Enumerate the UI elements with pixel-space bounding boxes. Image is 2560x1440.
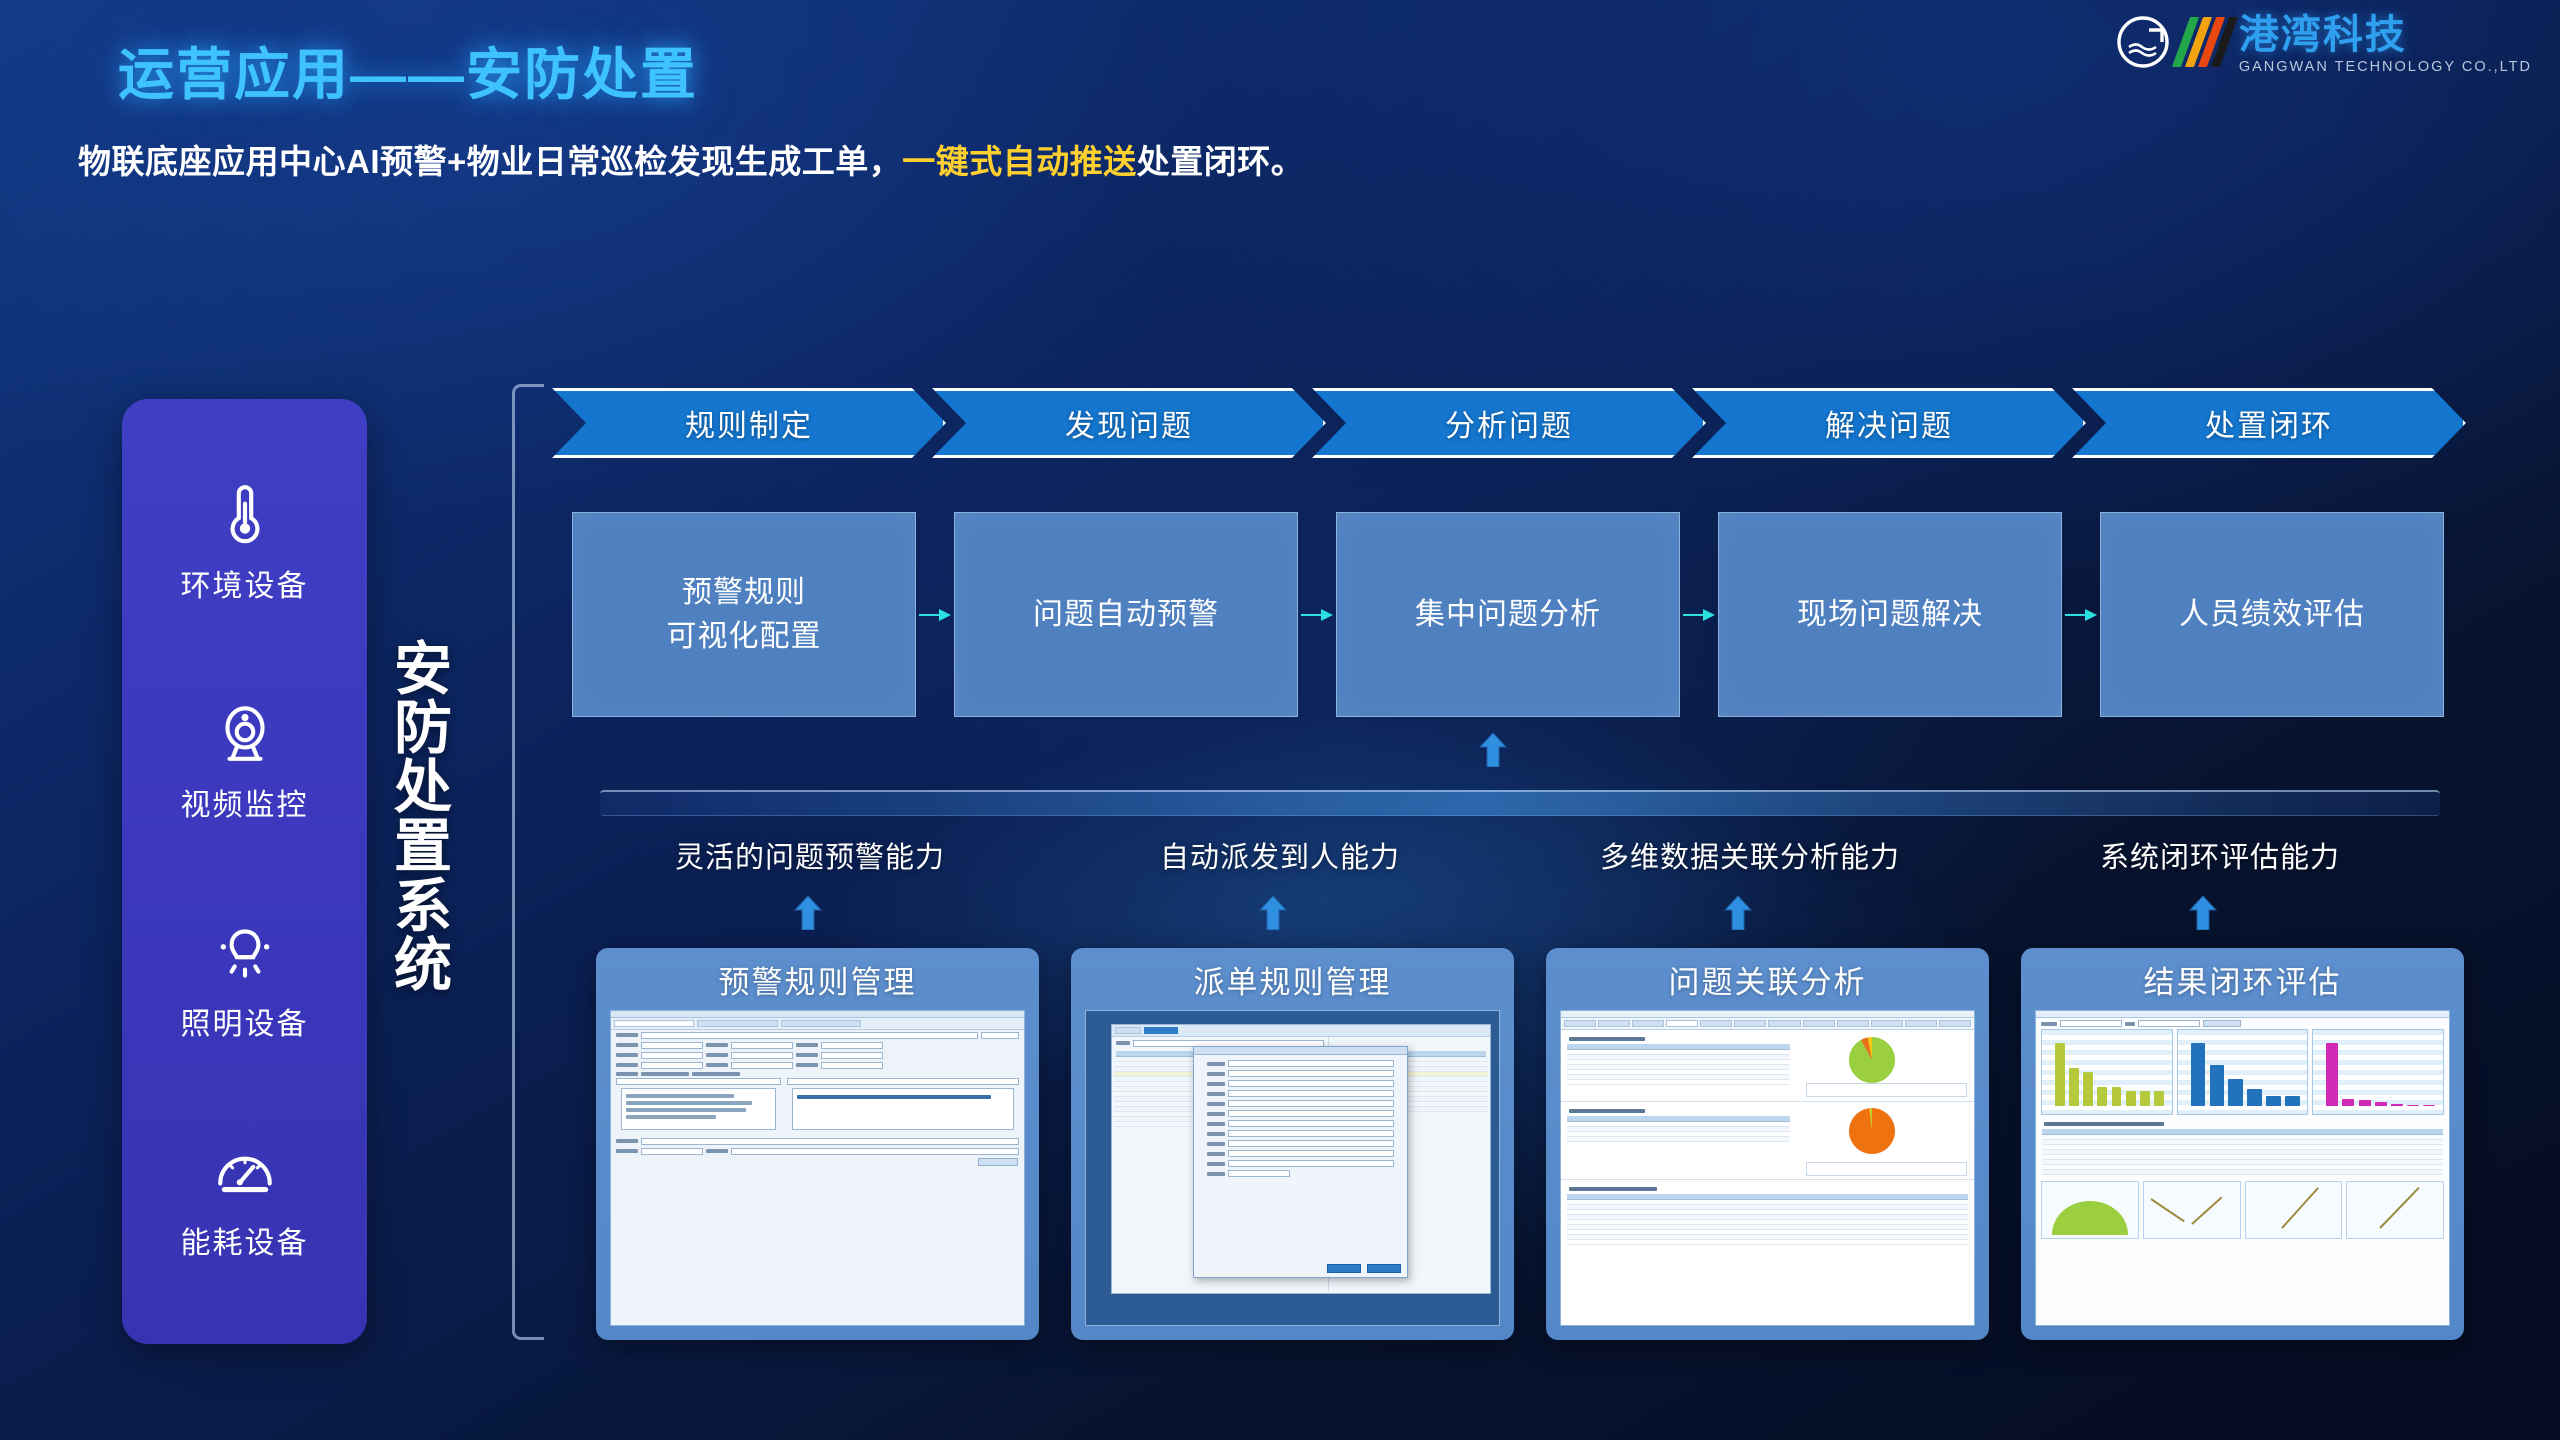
- stage-box-4[interactable]: 现场问题解决: [1718, 512, 2062, 717]
- logo-stripes-icon: [2172, 17, 2238, 67]
- stage-box-label: 集中问题分析: [1415, 593, 1601, 637]
- capability-label: 自动派发到人能力: [1160, 834, 1400, 876]
- subtitle-part1: 物联底座应用中心AI预警+物业日常巡检发现生成工单，: [78, 143, 902, 180]
- mini-chart-4: [2346, 1181, 2444, 1239]
- chevron-label: 解决问题: [1825, 401, 1953, 445]
- chevron-label: 规则制定: [685, 401, 813, 445]
- capability-4: 系统闭环评估能力: [1985, 825, 2455, 885]
- page-title: 运营应用——安防处置: [118, 30, 698, 111]
- bar-chart-closure-score: [2312, 1029, 2444, 1115]
- stage-arrow-4: [2062, 606, 2100, 624]
- chevron-label: 分析问题: [1445, 401, 1573, 445]
- chevron-label: 发现问题: [1065, 401, 1193, 445]
- capability-label: 灵活的问题预警能力: [675, 834, 945, 876]
- sidebar-item-energy[interactable]: 能耗设备: [181, 1138, 309, 1262]
- chevron-step-2[interactable]: 发现问题: [932, 388, 1326, 458]
- capability-label: 多维数据关联分析能力: [1600, 834, 1900, 876]
- screenshot-evaluation-dashboard-with-bar-charts: [2035, 1010, 2450, 1326]
- capability-1: 灵活的问题预警能力: [575, 825, 1045, 885]
- stage-box-5[interactable]: 人员绩效评估: [2100, 512, 2444, 717]
- bar-chart-workorder-count: [2041, 1029, 2173, 1115]
- capability-label: 系统闭环评估能力: [2100, 834, 2340, 876]
- card-issue-analysis[interactable]: 问题关联分析: [1546, 948, 1989, 1340]
- stage-box-label: 问题自动预警: [1033, 593, 1219, 637]
- card-title: 派单规则管理: [1085, 948, 1500, 1010]
- mini-chart-1: [2041, 1181, 2139, 1239]
- stage-box-3[interactable]: 集中问题分析: [1336, 512, 1680, 717]
- sidebar-item-label: 环境设备: [181, 561, 309, 605]
- logo-mark-icon: [2115, 14, 2171, 70]
- chevron-step-4[interactable]: 解决问题: [1692, 388, 2086, 458]
- card-title: 结果闭环评估: [2035, 948, 2450, 1010]
- gauge-icon: [212, 1138, 278, 1204]
- stage-box-row: 预警规则可视化配置 问题自动预警 集中问题分析 现场问题解决 人员绩效评估: [572, 512, 2444, 717]
- stage-box-2[interactable]: 问题自动预警: [954, 512, 1298, 717]
- screenshot-card-row: 预警规则管理 派单规则管理: [596, 948, 2464, 1340]
- stage-box-label: 人员绩效评估: [2179, 593, 2365, 637]
- stage-arrow-1: [916, 606, 954, 624]
- screenshot-alarm-rule-config-dialog: [610, 1010, 1025, 1326]
- screenshot-dispatch-rule-dialog: [1085, 1010, 1500, 1326]
- bar-chart-processing-time: [2177, 1029, 2309, 1115]
- card-dispatch-rule[interactable]: 派单规则管理: [1071, 948, 1514, 1340]
- mini-chart-3: [2245, 1181, 2343, 1239]
- device-sidebar: 环境设备 视频监控 照明设备: [122, 399, 367, 1344]
- capability-band: [600, 790, 2440, 816]
- capability-3: 多维数据关联分析能力: [1515, 825, 1985, 885]
- up-arrow-card-4: [2188, 896, 2218, 930]
- mini-chart-2: [2143, 1181, 2241, 1239]
- up-arrow-to-stage-3: [1478, 733, 1508, 767]
- up-arrow-card-2: [1258, 896, 1288, 930]
- stage-arrow-3: [1680, 606, 1718, 624]
- chevron-label: 处置闭环: [2205, 401, 2333, 445]
- card-title: 问题关联分析: [1560, 948, 1975, 1010]
- subtitle-highlight: 一键式自动推送: [902, 143, 1137, 180]
- up-arrow-card-1: [793, 896, 823, 930]
- chevron-step-1[interactable]: 规则制定: [552, 388, 946, 458]
- card-alarm-rule[interactable]: 预警规则管理: [596, 948, 1039, 1340]
- stage-box-label: 现场问题解决: [1797, 593, 1983, 637]
- sidebar-item-label: 能耗设备: [181, 1218, 309, 1262]
- camera-icon: [212, 700, 278, 766]
- lightbulb-icon: [212, 919, 278, 985]
- system-vertical-title: 安防处置系统: [385, 640, 461, 995]
- chevron-step-5[interactable]: 处置闭环: [2072, 388, 2466, 458]
- sidebar-item-video[interactable]: 视频监控: [181, 700, 309, 824]
- chevron-step-3[interactable]: 分析问题: [1312, 388, 1706, 458]
- stage-box-label: 预警规则可视化配置: [667, 571, 822, 658]
- card-title: 预警规则管理: [610, 948, 1025, 1010]
- stage-arrow-2: [1298, 606, 1336, 624]
- sidebar-item-lighting[interactable]: 照明设备: [181, 919, 309, 1043]
- flow-bracket: [512, 384, 544, 1340]
- sidebar-item-label: 照明设备: [181, 999, 309, 1043]
- subtitle-part2: 处置闭环。: [1137, 143, 1305, 180]
- thermometer-icon: [212, 481, 278, 547]
- stage-box-1[interactable]: 预警规则可视化配置: [572, 512, 916, 717]
- sidebar-item-label: 视频监控: [181, 780, 309, 824]
- process-chevron-row: 规则制定 发现问题 分析问题 解决问题 处置闭环: [552, 388, 2452, 458]
- logo-company-name-en: GANGWAN TECHNOLOGY CO.,LTD: [2239, 59, 2532, 75]
- card-result-evaluation[interactable]: 结果闭环评估: [2021, 948, 2464, 1340]
- up-arrow-card-3: [1723, 896, 1753, 930]
- sidebar-item-environment[interactable]: 环境设备: [181, 481, 309, 605]
- capability-row: 灵活的问题预警能力 自动派发到人能力 多维数据关联分析能力 系统闭环评估能力: [575, 825, 2455, 885]
- capability-2: 自动派发到人能力: [1045, 825, 1515, 885]
- logo-company-name-cn: 港湾科技: [2239, 14, 2532, 56]
- pie-chart-2: [1849, 1108, 1895, 1154]
- subtitle: 物联底座应用中心AI预警+物业日常巡检发现生成工单，一键式自动推送处置闭环。: [78, 135, 1304, 183]
- screenshot-analysis-report-with-pie-charts: [1560, 1010, 1975, 1326]
- pie-chart-1: [1849, 1037, 1895, 1083]
- company-logo: 港湾科技 GANGWAN TECHNOLOGY CO.,LTD: [2115, 14, 2532, 75]
